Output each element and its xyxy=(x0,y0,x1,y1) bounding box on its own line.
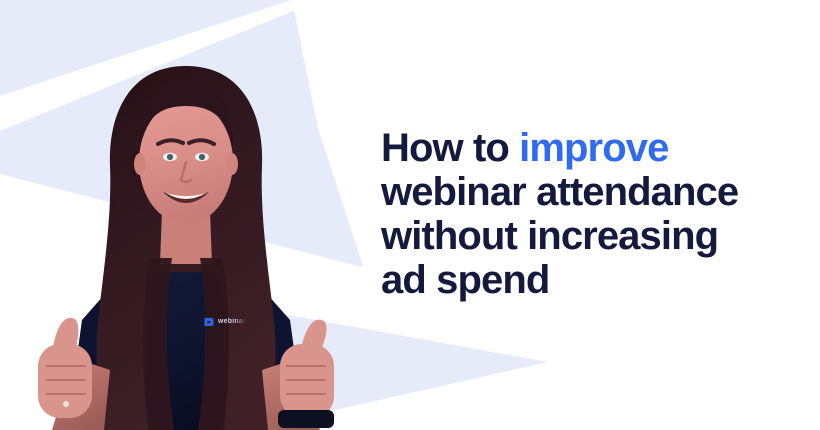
headline-line-1-prefix: How to xyxy=(381,126,519,170)
presenter-iris-left xyxy=(167,154,173,160)
headline-line-4: ad spend xyxy=(381,258,801,302)
presenter-iris-right xyxy=(199,154,205,160)
webinar-logo-icon xyxy=(203,316,215,328)
headline-line-3: without increasing xyxy=(381,214,801,258)
presenter-ear-left xyxy=(134,153,146,175)
headline-line-1: How to improve xyxy=(381,126,801,170)
presenter-wristwatch xyxy=(278,410,334,428)
headline-line-2: webinar attendance xyxy=(381,170,801,214)
headline-accent-word: improve xyxy=(519,126,668,170)
webinar-promo-banner: webinar How to improve webinar attendanc… xyxy=(0,0,820,430)
headline: How to improve webinar attendance withou… xyxy=(381,126,801,302)
presenter-photo xyxy=(0,58,372,430)
shirt-logo-wordmark: webinar xyxy=(218,318,246,325)
shirt-brand-logo: webinar xyxy=(203,314,261,329)
presenter-ear-right xyxy=(226,153,238,175)
